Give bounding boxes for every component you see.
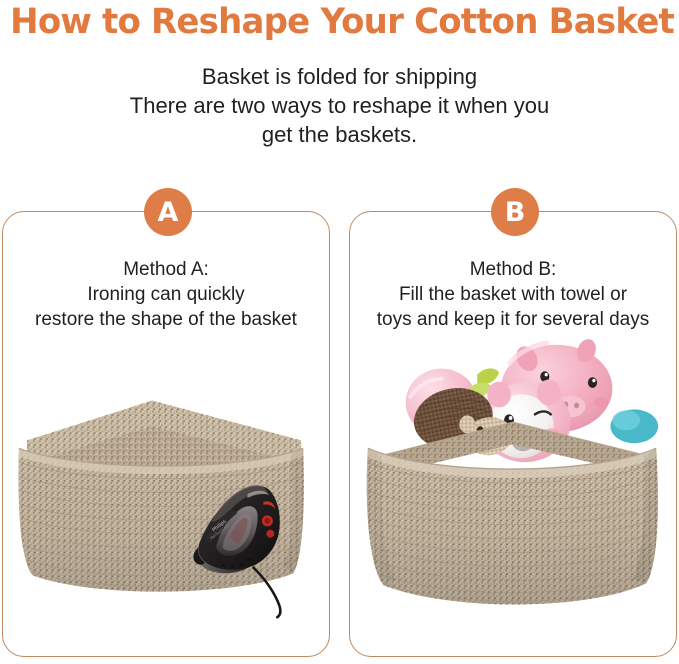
basket-with-iron-photo: Philips PerfectCare xyxy=(3,362,329,622)
method-a-line-1: Method A: xyxy=(3,257,329,282)
page-subtitle: Basket is folded for shipping There are … xyxy=(0,62,679,149)
subtitle-line-1: Basket is folded for shipping xyxy=(0,62,679,91)
method-a-text: Method A: Ironing can quickly restore th… xyxy=(3,257,329,332)
basket-with-toys-photo xyxy=(350,330,676,622)
method-a-line-3: restore the shape of the basket xyxy=(3,307,329,332)
method-a-badge: A xyxy=(144,188,192,236)
subtitle-line-3: get the baskets. xyxy=(0,120,679,149)
page-title: How to Reshape Your Cotton Basket xyxy=(10,2,669,42)
subtitle-line-2: There are two ways to reshape it when yo… xyxy=(0,91,679,120)
method-b-badge: B xyxy=(491,188,539,236)
method-b-line-2: Fill the basket with towel or xyxy=(350,282,676,307)
method-b-card: B Method B: Fill the basket with towel o… xyxy=(349,211,677,657)
method-a-card: A Method A: Ironing can quickly restore … xyxy=(2,211,330,657)
infographic-page: How to Reshape Your Cotton Basket Basket… xyxy=(0,0,679,664)
method-b-line-3: toys and keep it for several days xyxy=(350,307,676,332)
method-a-line-2: Ironing can quickly xyxy=(3,282,329,307)
method-b-line-1: Method B: xyxy=(350,257,676,282)
method-b-text: Method B: Fill the basket with towel or … xyxy=(350,257,676,332)
